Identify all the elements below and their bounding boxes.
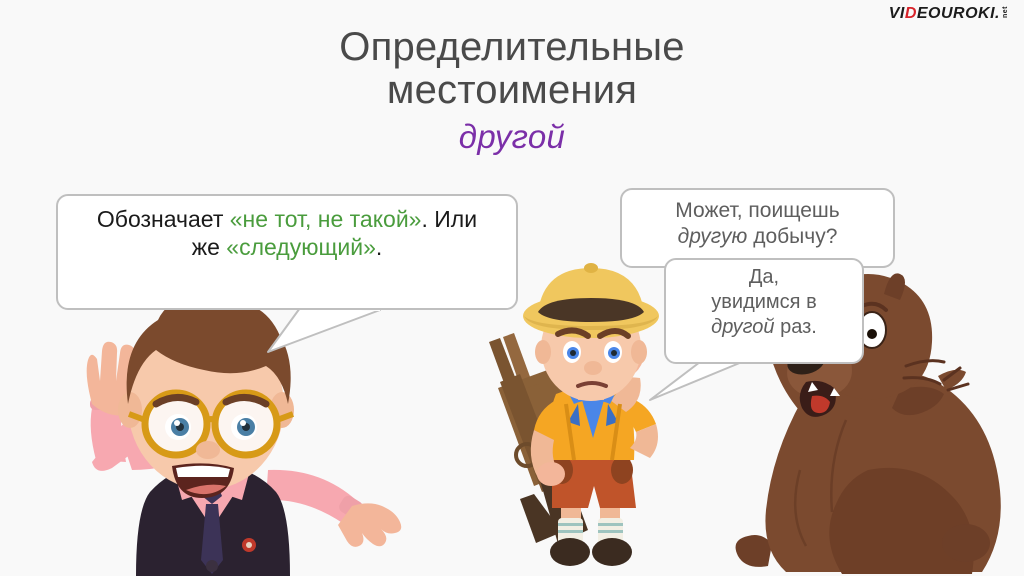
definition-seg-4-highlight: «следующий» — [226, 234, 376, 260]
definition-seg-2-highlight: «не тот, не такой» — [230, 206, 422, 232]
definition-speech-bubble: Обозначает «не тот, не такой». Или же «с… — [56, 194, 518, 310]
bear-bubble-text: Может, поищешь другую добычу? — [622, 190, 893, 251]
bear-bubble-line2: другую добычу? — [634, 224, 881, 250]
definition-bubble-text: Обозначает «не тот, не такой». Или же «с… — [58, 196, 516, 261]
hunter-bubble-line1: Да, — [674, 265, 854, 290]
bear-bubble-line1: Может, поищешь — [634, 198, 881, 224]
bear-bubble-line2-rest: добычу? — [747, 225, 837, 248]
hunter-bubble-line3-rest: раз. — [775, 316, 817, 338]
hunter-bubble-keyword: другой — [711, 316, 774, 338]
hunter-bubble-line2: увидимся в — [674, 290, 854, 315]
bear-speech-bubble: Может, поищешь другую добычу? — [620, 188, 895, 268]
definition-seg-5: . — [376, 234, 382, 260]
slide-canvas: VIDEOUROKI. net Определительные местоиме… — [0, 0, 1024, 576]
hunter-speech-bubble: Да, увидимся в другой раз. — [664, 258, 864, 364]
bear-bubble-keyword: другую — [678, 225, 748, 248]
hunter-bubble-line3: другой раз. — [674, 315, 854, 340]
definition-seg-1: Обозначает — [97, 206, 230, 232]
hunter-bubble-text: Да, увидимся в другой раз. — [666, 260, 862, 339]
